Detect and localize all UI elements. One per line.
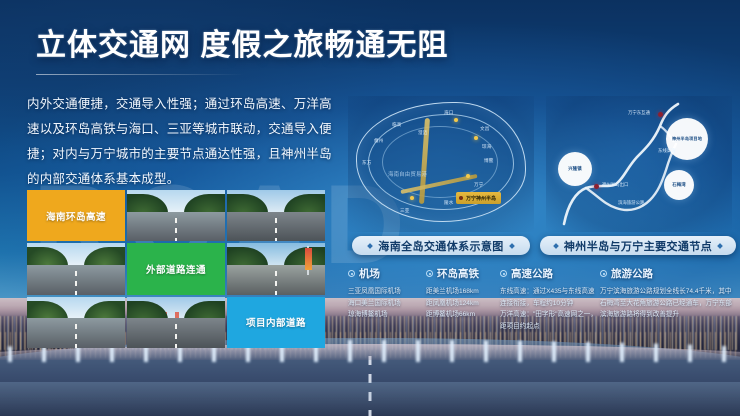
info-column-airport: 机场 三亚凤凰国际机场 海口美兰国际机场 琼海博鳌机场 <box>348 266 428 321</box>
info-column-title: 机场 <box>359 266 380 281</box>
bullet-circle-icon <box>500 270 507 277</box>
map-caption-wanning: 神州半岛与万宁主要交通节点 <box>540 236 736 255</box>
junction-point-west <box>594 184 599 189</box>
bullet-circle-icon <box>426 270 433 277</box>
junction-point-north <box>658 112 663 117</box>
sea-haze <box>0 382 740 416</box>
info-line: 海口美兰国际机场 <box>348 298 428 310</box>
info-column-highspeed-rail: 环岛高铁 距美兰机场168km 距凤凰机场124km 距博鳌机场66km <box>426 266 508 321</box>
transport-info-row: 机场 三亚凤凰国际机场 海口美兰国际机场 琼海博鳌机场 环岛高铁 距美兰机场16… <box>348 266 732 350</box>
map-label-haikou: 海口 <box>444 110 454 116</box>
map-caption-text: 海南全岛交通体系示意图 <box>378 238 503 254</box>
map-label-wenchang: 文昌 <box>480 126 490 132</box>
grid-photo-road-4 <box>227 243 325 294</box>
grid-tile-label: 项目内部道路 <box>227 315 325 329</box>
info-column-body: 三亚凤凰国际机场 海口美兰国际机场 琼海博鳌机场 <box>348 286 428 321</box>
node-shimeiwan[interactable]: 石梅湾 <box>664 170 694 200</box>
info-column-body: 距美兰机场168km 距凤凰机场124km 距博鳌机场66km <box>426 286 508 321</box>
diamond-icon <box>717 243 723 249</box>
label-peninsula-exit: 神州半岛出口 <box>602 182 628 188</box>
info-column-header: 环岛高铁 <box>426 266 508 281</box>
grid-photo-road-6 <box>127 297 225 348</box>
grid-tile-label: 海南环岛高速 <box>27 209 125 223</box>
info-line: 距美兰机场168km <box>426 286 508 298</box>
info-column-header: 高速公路 <box>500 266 600 281</box>
map-node-dot <box>474 136 478 140</box>
info-line: 万洋高速："田字形"高速网之一，距项目约起点 <box>500 309 600 332</box>
slide-stage: 立体交通网 度假之旅畅通无阻 内外交通便捷，交通导入性强；通过环岛高速、万洋高速… <box>0 0 740 416</box>
grid-tile-label: 外部道路连通 <box>127 262 225 276</box>
info-column-title: 环岛高铁 <box>437 266 479 281</box>
info-line: 东线高速：通过X435与东线高速连接衔接，车程约10分钟 <box>500 286 600 309</box>
info-column-expressway: 高速公路 东线高速：通过X435与东线高速连接衔接，车程约10分钟 万洋高速："… <box>500 266 600 332</box>
info-line: 三亚凤凰国际机场 <box>348 286 428 298</box>
info-column-header: 机场 <box>348 266 428 281</box>
info-column-title: 旅游公路 <box>611 266 653 281</box>
map-hainan-island[interactable]: 海口 文昌 琼海 博鳌 万宁 陵水 三亚 东方 儋州 临高 澄迈 海南自由贸易港… <box>348 96 534 232</box>
label-coastal-tourism-road: 滨海旅游公路 <box>618 200 644 206</box>
info-column-body: 万宁滨海旅游公路规划全线长74.4千米，其中石梅湾至大花角旅游公路已经通车，万宁… <box>600 286 732 321</box>
diamond-icon <box>553 243 559 249</box>
map-label-dongfang: 东方 <box>362 160 372 166</box>
map-label-danzhou: 儋州 <box>374 138 384 144</box>
label-east-expressway: 东线高速 <box>658 148 676 154</box>
map-label-free-trade-port: 海南自由贸易港 <box>388 170 427 178</box>
title-underline <box>36 74 244 75</box>
diamond-icon <box>367 243 373 249</box>
info-line: 琼海博鳌机场 <box>348 309 428 321</box>
info-column-title: 高速公路 <box>511 266 553 281</box>
map-caption-text: 神州半岛与万宁主要交通节点 <box>564 238 712 254</box>
grid-photo-road-3 <box>27 243 125 294</box>
map-node-dot <box>466 174 470 178</box>
map-node-dot <box>454 118 458 122</box>
info-column-header: 旅游公路 <box>600 266 732 281</box>
page-title-block: 立体交通网 度假之旅畅通无阻 <box>36 20 448 64</box>
info-line: 万宁滨海旅游公路规划全线长74.4千米，其中石梅湾至大花角旅游公路已经通车，万宁… <box>600 286 732 321</box>
map-label-lingao: 临高 <box>392 122 402 128</box>
map-caption-hainan: 海南全岛交通体系示意图 <box>352 236 530 255</box>
grid-photo-road-1 <box>127 190 225 241</box>
map-wanning-nodes[interactable]: 兴隆镇 神州半岛项目地 石梅湾 万宁东互通 神州半岛出口 东线高速 滨海旅游公路 <box>546 96 732 232</box>
grid-photo-road-2 <box>227 190 325 241</box>
grid-tile-expressway: 海南环岛高速 <box>27 190 125 241</box>
info-line: 距凤凰机场124km <box>426 298 508 310</box>
intro-paragraph: 内外交通便捷，交通导入性强；通过环岛高速、万洋高速以及环岛高铁与海口、三亚等城市… <box>27 92 339 192</box>
bullet-circle-icon <box>348 270 355 277</box>
photo-grid: 海南环岛高速 外部道路连通 <box>27 190 325 348</box>
photo-grid-wrapper: ROAD 海南环岛高速 外部道路连通 <box>27 190 325 348</box>
map-label-chengmai: 澄迈 <box>418 130 428 136</box>
map-label-lingshui: 陵水 <box>444 200 454 206</box>
map-label-wanning: 万宁 <box>474 182 484 188</box>
node-xinglong[interactable]: 兴隆镇 <box>558 152 592 186</box>
info-line: 距博鳌机场66km <box>426 309 508 321</box>
map-label-qionghai: 琼海 <box>482 144 492 150</box>
map-node-dot <box>410 196 414 200</box>
info-column-body: 东线高速：通过X435与东线高速连接衔接，车程约10分钟 万洋高速："田字形"高… <box>500 286 600 332</box>
map-label-sanya: 三亚 <box>400 208 410 214</box>
page-title: 立体交通网 度假之旅畅通无阻 <box>36 20 448 64</box>
map-badge-project[interactable]: 万宁神州半岛 <box>456 192 501 204</box>
grid-tile-external-roads: 外部道路连通 <box>127 243 225 294</box>
bullet-circle-icon <box>600 270 607 277</box>
grid-tile-internal-roads: 项目内部道路 <box>227 297 325 348</box>
info-column-tourism-road: 旅游公路 万宁滨海旅游公路规划全线长74.4千米，其中石梅湾至大花角旅游公路已经… <box>600 266 732 321</box>
diamond-icon <box>509 243 515 249</box>
map-label-boao: 博鳌 <box>484 158 494 164</box>
label-wanning-interchange: 万宁东互通 <box>628 110 650 116</box>
grid-photo-road-5 <box>27 297 125 348</box>
